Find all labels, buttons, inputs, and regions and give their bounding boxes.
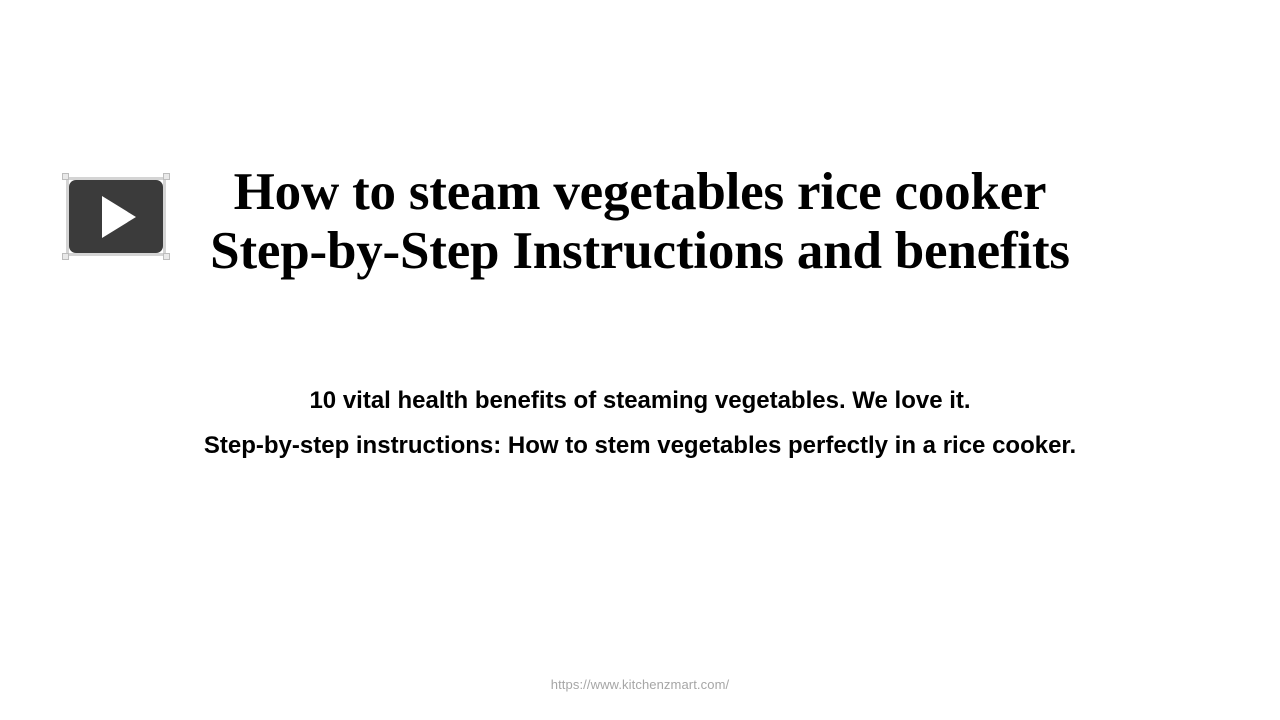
resize-handle-top-left[interactable]	[62, 173, 69, 180]
play-icon[interactable]	[69, 180, 163, 253]
slide-body-line-2: Step-by-step instructions: How to stem v…	[140, 423, 1140, 468]
video-placeholder[interactable]	[66, 177, 166, 256]
slide-title: How to steam vegetables rice cooker Step…	[160, 163, 1120, 281]
slide-title-line-2: Step-by-Step Instructions and benefits	[160, 222, 1120, 281]
play-triangle-icon	[102, 196, 136, 238]
slide-canvas: How to steam vegetables rice cooker Step…	[0, 0, 1280, 720]
resize-handle-bottom-left[interactable]	[62, 253, 69, 260]
slide-body-line-1: 10 vital health benefits of steaming veg…	[140, 378, 1140, 423]
footer-url[interactable]: https://www.kitchenzmart.com/	[0, 677, 1280, 692]
slide-title-line-1: How to steam vegetables rice cooker	[160, 163, 1120, 222]
slide-body: 10 vital health benefits of steaming veg…	[140, 378, 1140, 468]
